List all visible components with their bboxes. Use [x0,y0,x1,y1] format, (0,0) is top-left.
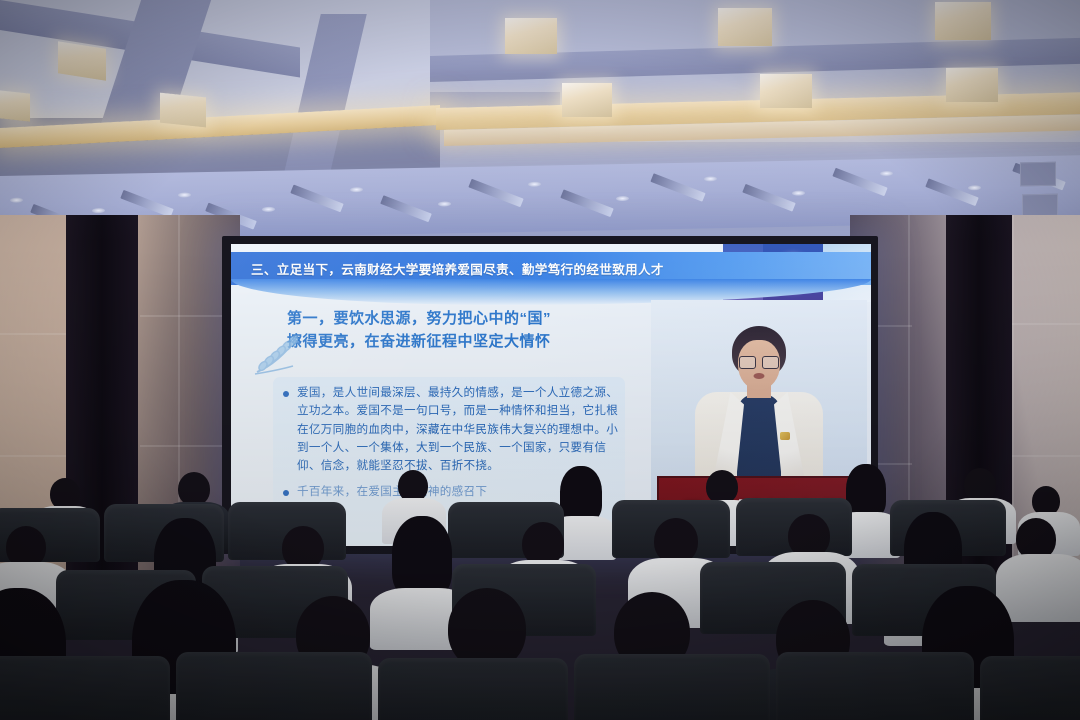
ceiling-downlight [505,18,557,54]
ceiling-downlight [946,68,998,102]
ceiling-downlight [935,2,991,40]
slide-subtitle-line2: 擦得更亮，在奋进新征程中坚定大情怀 [287,331,687,354]
auditorium-seat [176,652,372,720]
auditorium-seat [574,654,770,720]
auditorium-seat [980,656,1080,720]
bullet-dot-icon [283,391,289,397]
ceiling [0,0,1080,240]
ceiling-vent [1020,162,1056,187]
lecture-hall-photo: 三、立足当下，云南财经大学要培养爱国尽责、勤学笃行的经世致用人才 第一，要饮水思… [0,0,1080,720]
ceiling-downlight [0,90,30,121]
ceiling-downlight [160,93,206,128]
lapel-badge [780,432,790,440]
ceiling-vent [1022,194,1058,217]
auditorium-seat [0,656,170,720]
glasses-icon [739,356,779,367]
slide-header-text: 三、立足当下，云南财经大学要培养爱国尽责、勤学笃行的经世致用人才 [251,259,664,278]
auditorium-seat [776,652,974,720]
ceiling-downlight [760,74,812,108]
ceiling-downlight [562,83,612,117]
ceiling-downlight [718,8,772,46]
slide-subtitle: 第一，要饮水思源，努力把心中的“国” 擦得更亮，在奋进新征程中坚定大情怀 [287,308,687,354]
auditorium-seat [378,658,568,720]
wheat-stalk-icon [249,332,305,378]
audience-area [0,460,1080,720]
slide-subtitle-line1: 第一，要饮水思源，努力把心中的“国” [287,308,687,331]
